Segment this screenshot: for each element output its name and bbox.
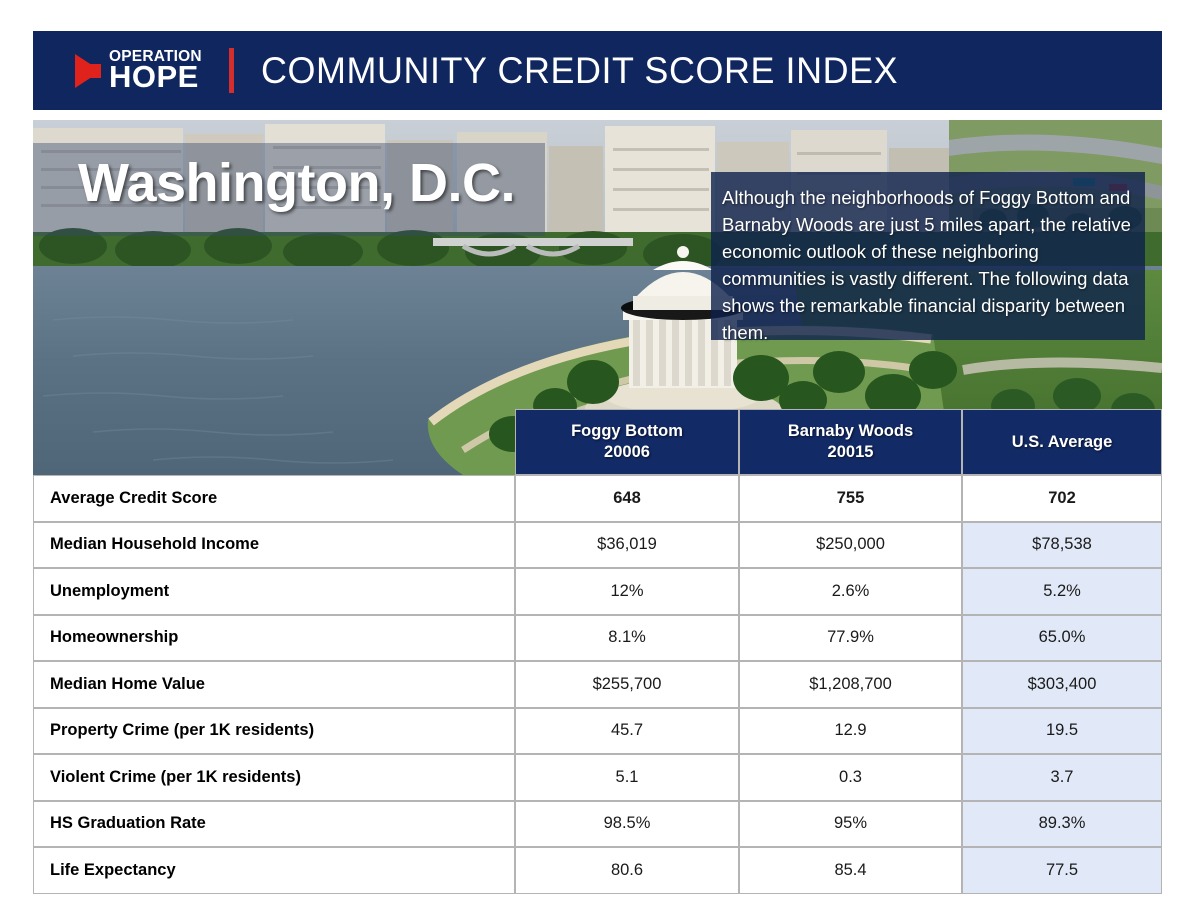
logo-wordmark: OPERATION HOPE — [109, 49, 202, 93]
row-value-barnaby: 85.4 — [739, 847, 962, 894]
table-row: HS Graduation Rate 98.5% 95% 89.3% — [33, 801, 1162, 848]
row-label: Property Crime (per 1K residents) — [33, 708, 515, 755]
community-credit-score-index-slide: OPERATION HOPE COMMUNITY CREDIT SCORE IN… — [0, 0, 1200, 900]
row-label: Median Home Value — [33, 661, 515, 708]
row-value-foggy: 5.1 — [515, 754, 739, 801]
row-label: Unemployment — [33, 568, 515, 615]
row-label: Violent Crime (per 1K residents) — [33, 754, 515, 801]
row-value-foggy: 98.5% — [515, 801, 739, 848]
table-row: Property Crime (per 1K residents) 45.7 1… — [33, 708, 1162, 755]
city-title: Washington, D.C. — [78, 152, 515, 214]
column-header-barnaby-woods-name: Barnaby Woods — [788, 422, 913, 440]
red-arrow-icon — [75, 54, 101, 88]
row-value-foggy: $36,019 — [515, 522, 739, 569]
row-label: Homeownership — [33, 615, 515, 662]
row-value-us: $78,538 — [962, 522, 1162, 569]
description-text: Although the neighborhoods of Foggy Bott… — [722, 184, 1134, 346]
column-header-barnaby-woods-zip: 20015 — [740, 442, 961, 463]
table-row: Unemployment 12% 2.6% 5.2% — [33, 568, 1162, 615]
column-header-foggy-bottom-zip: 20006 — [516, 442, 738, 463]
comparison-table: Foggy Bottom 20006 Barnaby Woods 20015 U… — [33, 409, 1162, 894]
column-header-us-average: U.S. Average — [962, 409, 1162, 475]
row-label: HS Graduation Rate — [33, 801, 515, 848]
row-value-barnaby: $1,208,700 — [739, 661, 962, 708]
row-label: Average Credit Score — [33, 475, 515, 522]
row-label: Life Expectancy — [33, 847, 515, 894]
row-value-foggy: 8.1% — [515, 615, 739, 662]
column-header-us-average-name: U.S. Average — [1012, 433, 1113, 451]
row-value-us: 3.7 — [962, 754, 1162, 801]
column-header-foggy-bottom-name: Foggy Bottom — [571, 422, 683, 440]
row-value-barnaby: 77.9% — [739, 615, 962, 662]
table-row: Violent Crime (per 1K residents) 5.1 0.3… — [33, 754, 1162, 801]
table-row: Average Credit Score 648 755 702 — [33, 475, 1162, 522]
operation-hope-logo: OPERATION HOPE — [75, 49, 202, 93]
header-divider — [229, 48, 234, 93]
row-value-foggy: 648 — [515, 475, 739, 522]
row-value-foggy: 80.6 — [515, 847, 739, 894]
row-value-barnaby: 755 — [739, 475, 962, 522]
row-value-us: 77.5 — [962, 847, 1162, 894]
row-value-us: 702 — [962, 475, 1162, 522]
row-value-us: 89.3% — [962, 801, 1162, 848]
table-header: Foggy Bottom 20006 Barnaby Woods 20015 U… — [33, 409, 1162, 475]
column-header-foggy-bottom: Foggy Bottom 20006 — [515, 409, 739, 475]
table-row: Median Home Value $255,700 $1,208,700 $3… — [33, 661, 1162, 708]
table-row: Median Household Income $36,019 $250,000… — [33, 522, 1162, 569]
row-value-foggy: $255,700 — [515, 661, 739, 708]
row-value-barnaby: 12.9 — [739, 708, 962, 755]
page-title: COMMUNITY CREDIT SCORE INDEX — [261, 50, 898, 92]
row-value-barnaby: 2.6% — [739, 568, 962, 615]
row-value-foggy: 45.7 — [515, 708, 739, 755]
row-value-foggy: 12% — [515, 568, 739, 615]
table-row: Life Expectancy 80.6 85.4 77.5 — [33, 847, 1162, 894]
row-value-us: 65.0% — [962, 615, 1162, 662]
table-body: Average Credit Score 648 755 702 Median … — [33, 475, 1162, 894]
header-bar: OPERATION HOPE COMMUNITY CREDIT SCORE IN… — [33, 31, 1162, 110]
row-value-us: $303,400 — [962, 661, 1162, 708]
row-value-barnaby: 0.3 — [739, 754, 962, 801]
row-label: Median Household Income — [33, 522, 515, 569]
table-row: Homeownership 8.1% 77.9% 65.0% — [33, 615, 1162, 662]
row-value-barnaby: 95% — [739, 801, 962, 848]
row-value-us: 5.2% — [962, 568, 1162, 615]
row-value-us: 19.5 — [962, 708, 1162, 755]
table-header-spacer — [33, 409, 515, 475]
row-value-barnaby: $250,000 — [739, 522, 962, 569]
logo-hope-text: HOPE — [109, 61, 202, 92]
column-header-barnaby-woods: Barnaby Woods 20015 — [739, 409, 962, 475]
